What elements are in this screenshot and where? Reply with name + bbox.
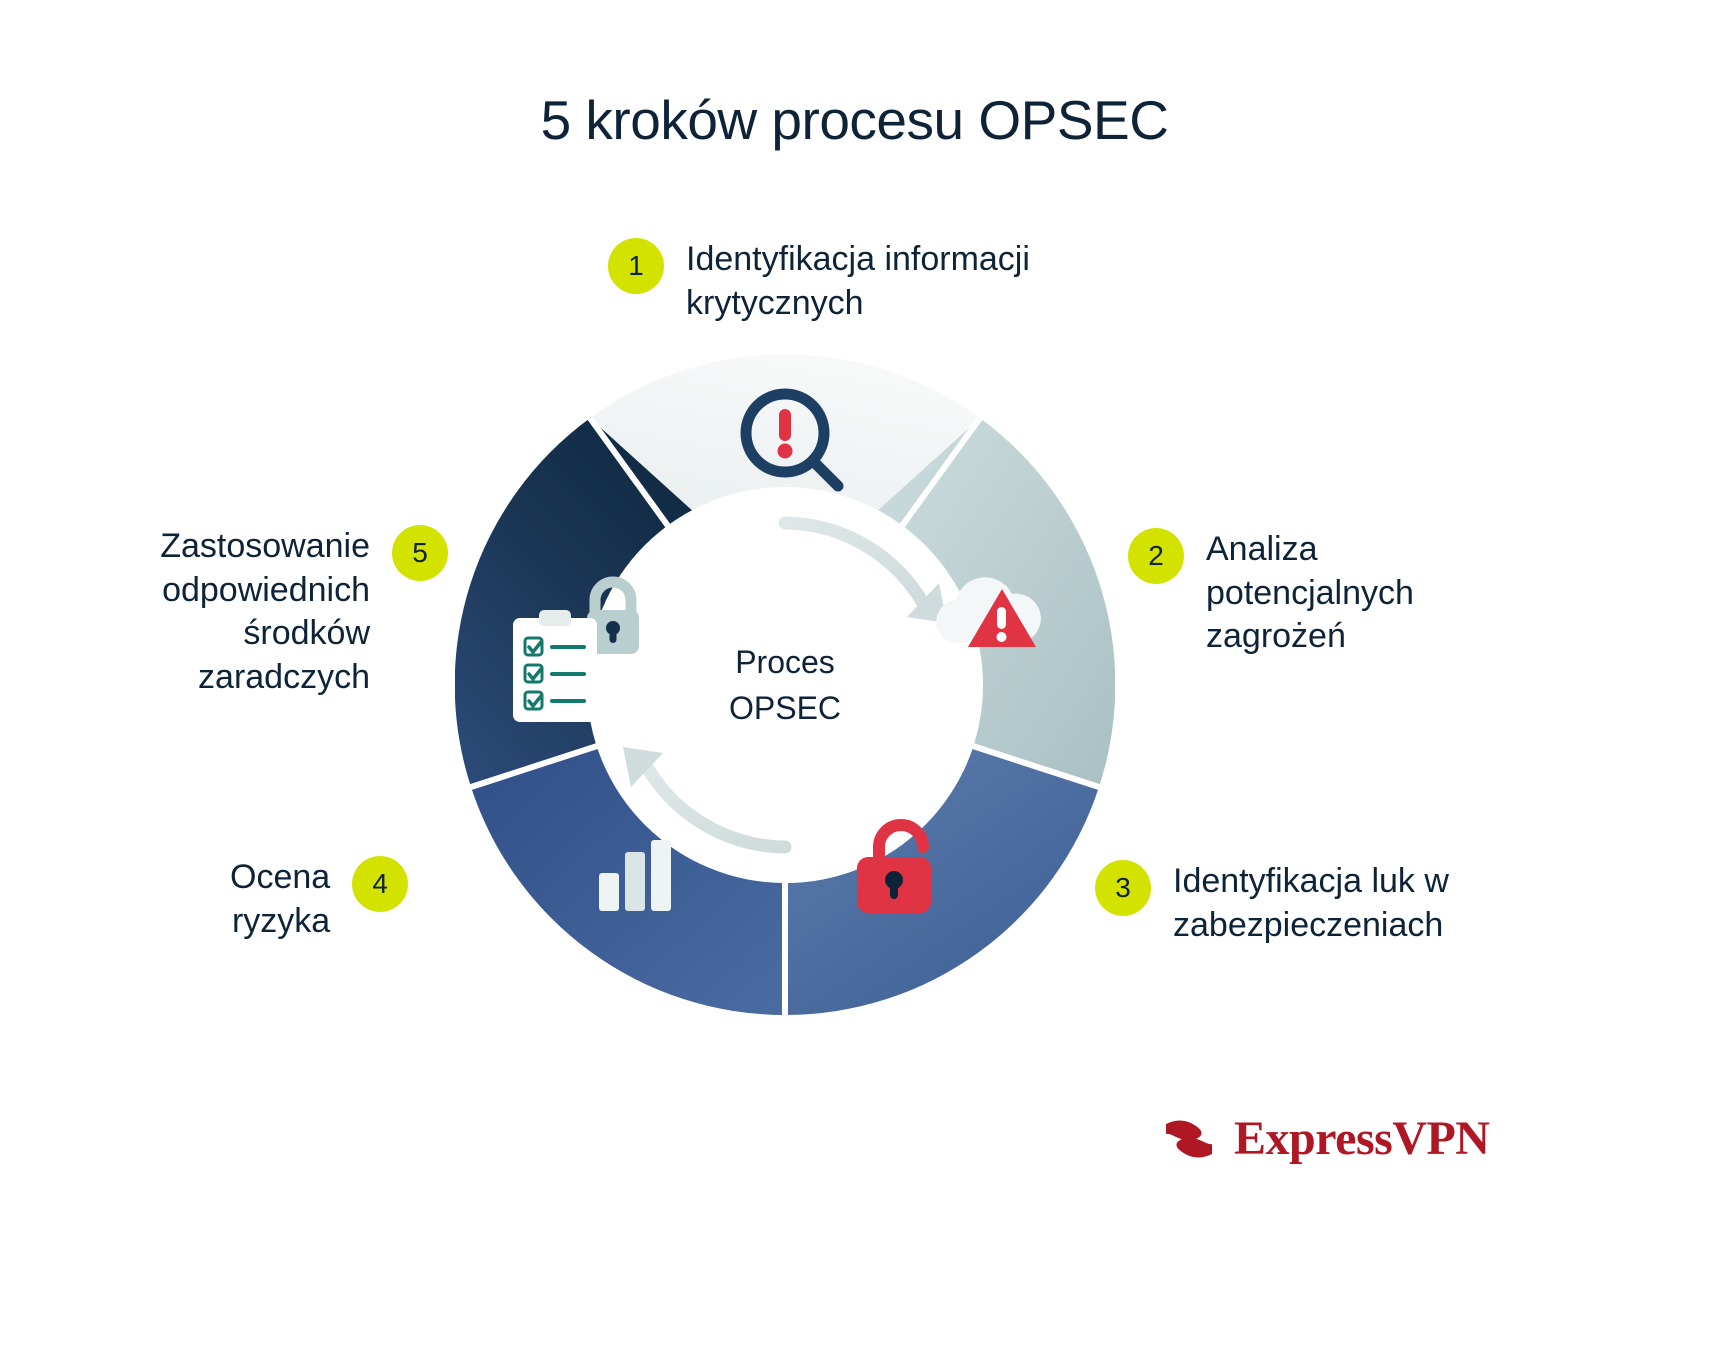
step-badge-2: 2 — [1128, 528, 1184, 584]
step-item-5[interactable]: 5 Zastosowanie odpowiednich środków zara… — [120, 525, 448, 699]
step-badge-1: 1 — [608, 238, 664, 294]
step-item-2[interactable]: 2 Analiza potencjalnych zagrożeń — [1128, 528, 1414, 659]
step-item-4[interactable]: 4 Ocena ryzyka — [230, 856, 408, 943]
step-label-2: Analiza potencjalnych zagrożeń — [1206, 528, 1414, 659]
opsec-donut-chart: Proces OPSEC — [455, 355, 1115, 1015]
expressvpn-logo-mark — [1158, 1108, 1220, 1170]
expressvpn-logo-text: ExpressVPN — [1234, 1115, 1489, 1163]
step-badge-4: 4 — [352, 856, 408, 912]
infographic-canvas: 5 kroków procesu OPSEC — [0, 0, 1709, 1361]
step-label-4: Ocena ryzyka — [230, 856, 330, 943]
page-title: 5 kroków procesu OPSEC — [0, 88, 1709, 152]
step-label-5: Zastosowanie odpowiednich środków zaradc… — [120, 525, 370, 699]
step-label-3: Identyfikacja luk w zabezpieczeniach — [1173, 860, 1449, 947]
step-item-3[interactable]: 3 Identyfikacja luk w zabezpieczeniach — [1095, 860, 1449, 947]
donut-svg — [455, 355, 1115, 1015]
step-badge-5: 5 — [392, 525, 448, 581]
donut-hub — [587, 487, 983, 883]
step-label-1: Identyfikacja informacji krytycznych — [686, 238, 1030, 325]
expressvpn-logo[interactable]: ExpressVPN — [1158, 1108, 1489, 1170]
step-badge-3: 3 — [1095, 860, 1151, 916]
step-item-1[interactable]: 1 Identyfikacja informacji krytycznych — [608, 238, 1030, 325]
